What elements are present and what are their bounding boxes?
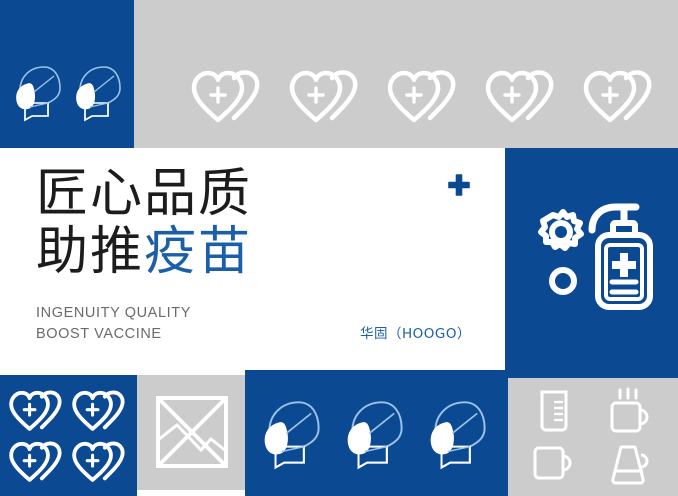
- subtitle: INGENUITY QUALITY BOOST VACCINE: [36, 303, 191, 345]
- subtitle-line-2: BOOST VACCINE: [36, 324, 191, 345]
- double-heart-plus-icon: [288, 68, 366, 128]
- double-heart-plus-icon: [8, 440, 68, 486]
- beaker-icon: [532, 388, 576, 436]
- subtitle-line-1: INGENUITY QUALITY: [36, 303, 191, 324]
- headline-line-2-black: 助推: [36, 222, 144, 282]
- pump-bottle-icon: [592, 207, 650, 307]
- virus-gear-icon: [541, 212, 581, 248]
- mug-icon: [530, 442, 578, 486]
- headline-line-1: 匠心品质: [36, 168, 336, 220]
- masked-head-icon: [262, 396, 326, 480]
- double-heart-plus-icon: [582, 68, 660, 128]
- brand-name: 华固（HOOGO）: [360, 322, 471, 342]
- steaming-mug-icon: [606, 387, 654, 437]
- double-heart-plus-icon: [71, 389, 131, 435]
- bottom-right-blue-strip: [508, 370, 678, 378]
- bottom-mask-icon-row: [252, 390, 502, 485]
- masked-head-icon: [428, 396, 492, 480]
- double-heart-plus-icon: [190, 68, 268, 128]
- masked-head-icon: [14, 62, 66, 130]
- hand-sanitizer-icon-group: [520, 185, 665, 335]
- top-heart-icon-row: [190, 66, 660, 128]
- kettle-icon: [605, 441, 655, 487]
- plus-icon: [447, 173, 471, 197]
- double-heart-plus-icon: [8, 389, 68, 435]
- poster-canvas: 匠心品质 助推疫苗 INGENUITY QUALITY BOOST VACCIN…: [0, 0, 678, 496]
- double-heart-plus-icon: [71, 440, 131, 486]
- double-heart-plus-icon: [386, 68, 464, 128]
- top-mask-icon-row: [14, 60, 126, 130]
- double-heart-plus-icon: [484, 68, 562, 128]
- masked-head-icon: [345, 396, 409, 480]
- bottom-heart-grid: [6, 386, 132, 488]
- masked-head-icon: [74, 62, 126, 130]
- small-ring-icon: [552, 270, 574, 292]
- vessel-icon-grid: [516, 386, 668, 490]
- broken-image-placeholder-icon: [155, 395, 229, 469]
- headline-line-2: 助推疫苗: [36, 226, 336, 278]
- headline-line-2-accent: 疫苗: [144, 222, 252, 282]
- page-title: 匠心品质 助推疫苗: [36, 168, 336, 284]
